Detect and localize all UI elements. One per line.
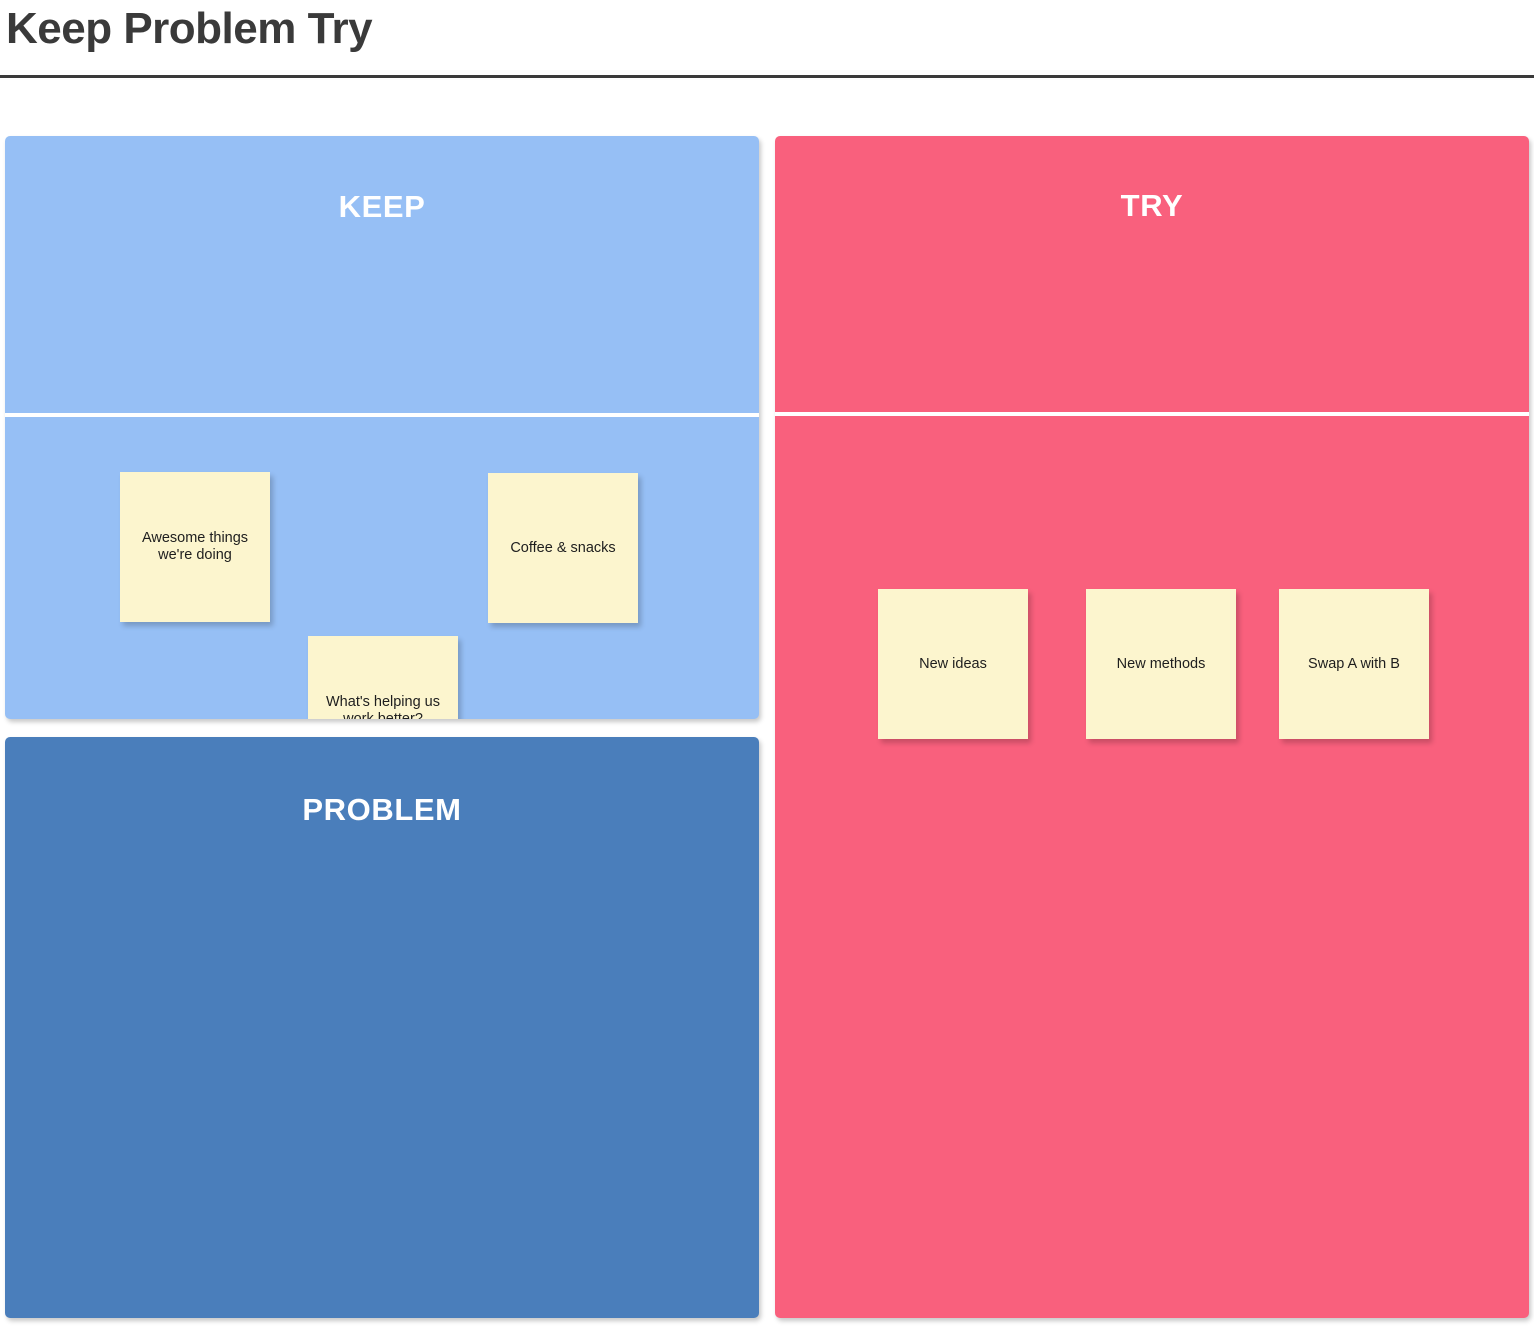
sticky-note-text: Coffee & snacks — [492, 540, 634, 557]
panel-problem-title: PROBLEM — [302, 792, 461, 828]
sticky-note[interactable]: What's helping us work better? — [308, 636, 458, 719]
sticky-note[interactable]: Coffee & snacks — [488, 473, 638, 623]
sticky-note-text: New methods — [1090, 656, 1232, 673]
sticky-note-text: Swap A with B — [1283, 656, 1425, 673]
sticky-note[interactable]: Swap A with B — [1279, 589, 1429, 739]
panel-try[interactable]: TRY New ideasNew methodsSwap A with B — [775, 136, 1529, 1318]
panel-try-title: TRY — [1121, 188, 1184, 224]
panel-try-body[interactable]: New ideasNew methodsSwap A with B — [775, 416, 1529, 1318]
panel-try-header: TRY — [775, 136, 1529, 275]
panel-problem[interactable]: PROBLEM Inefficient proceduresRedundant … — [5, 737, 759, 1318]
sticky-note-text: New ideas — [882, 656, 1024, 673]
panel-keep-header: KEEP — [5, 136, 759, 277]
sticky-note-text: What's helping us work better? — [312, 694, 454, 719]
sticky-note[interactable]: New ideas — [878, 589, 1028, 739]
panel-keep-title: KEEP — [339, 189, 426, 225]
panel-problem-header: PROBLEM — [5, 737, 759, 883]
sticky-note-text: Awesome things we're doing — [124, 530, 266, 564]
kpt-board: KEEP Awesome things we're doingCoffee & … — [0, 0, 1534, 1326]
sticky-note[interactable]: Awesome things we're doing — [120, 472, 270, 622]
panel-keep[interactable]: KEEP Awesome things we're doingCoffee & … — [5, 136, 759, 719]
panel-keep-body[interactable]: Awesome things we're doingCoffee & snack… — [5, 417, 759, 719]
sticky-note[interactable]: New methods — [1086, 589, 1236, 739]
